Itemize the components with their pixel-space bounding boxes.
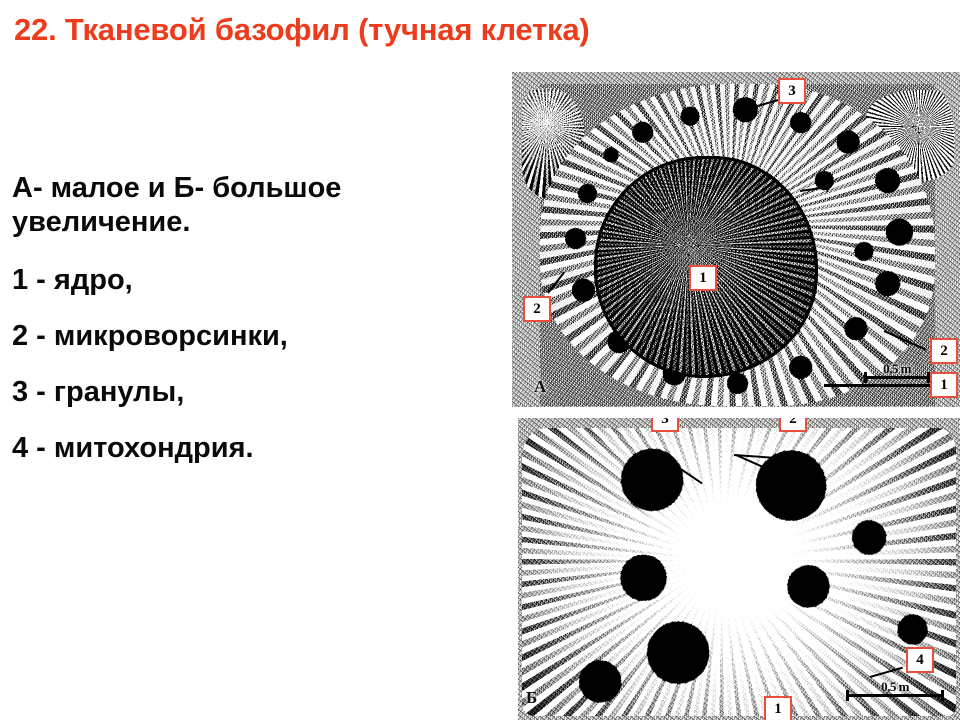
callout-mitochondria-b[interactable]: 4	[906, 647, 934, 673]
legend-item-4: 4 - митохондрия.	[12, 432, 472, 466]
micrograph-figure: А 4 0,5 m 3 1 2 2 1 Б	[500, 60, 960, 720]
panel-letter-a: А	[534, 377, 546, 397]
micrograph-panel-a: А 4 0,5 m 3 1 2 2 1	[512, 72, 960, 407]
legend-block: А- малое и Б- большое увеличение. 1 - яд…	[12, 172, 472, 488]
panel-a-image	[512, 72, 960, 407]
leader-line-nucleus-a	[824, 384, 930, 387]
callout-granules-a[interactable]: 3	[778, 78, 806, 104]
callout-microvilli-a-right[interactable]: 2	[930, 338, 958, 364]
scale-bar-a: 0,5 m	[864, 362, 930, 379]
legend-intro: А- малое и Б- большое увеличение.	[12, 172, 442, 240]
callout-nucleus-b[interactable]: 1	[764, 696, 792, 720]
callout-microvilli-a-left[interactable]: 2	[523, 296, 551, 322]
legend-item-1: 1 - ядро,	[12, 264, 472, 298]
mast-cell-body	[540, 84, 935, 406]
panel-b-image	[518, 418, 960, 720]
mast-cell-cytoplasm-detail	[522, 428, 956, 716]
scale-bar-b-label: 0,5 m	[846, 680, 944, 694]
panel-letter-b: Б	[526, 688, 537, 708]
scale-bar-b-line	[846, 694, 944, 697]
scale-bar-a-label: 0,5 m	[864, 362, 930, 376]
page-title: 22. Тканевой базофил (тучная клетка)	[14, 13, 864, 47]
scale-bar-a-line	[864, 376, 930, 379]
callout-granules-b[interactable]: 3	[651, 418, 679, 432]
callout-microvilli-b[interactable]: 2	[779, 418, 807, 432]
micrograph-panel-b: Б 0,5 m 3 2 4 1	[518, 418, 960, 720]
callout-nucleus-a[interactable]: 1	[689, 265, 717, 291]
legend-item-2: 2 - микроворсинки,	[12, 320, 472, 354]
scale-bar-b: 0,5 m	[846, 680, 944, 697]
callout-nucleus-a-right[interactable]: 1	[930, 372, 958, 398]
inline-mark-mitochondria: 4	[822, 180, 830, 197]
legend-item-3: 3 - гранулы,	[12, 376, 472, 410]
